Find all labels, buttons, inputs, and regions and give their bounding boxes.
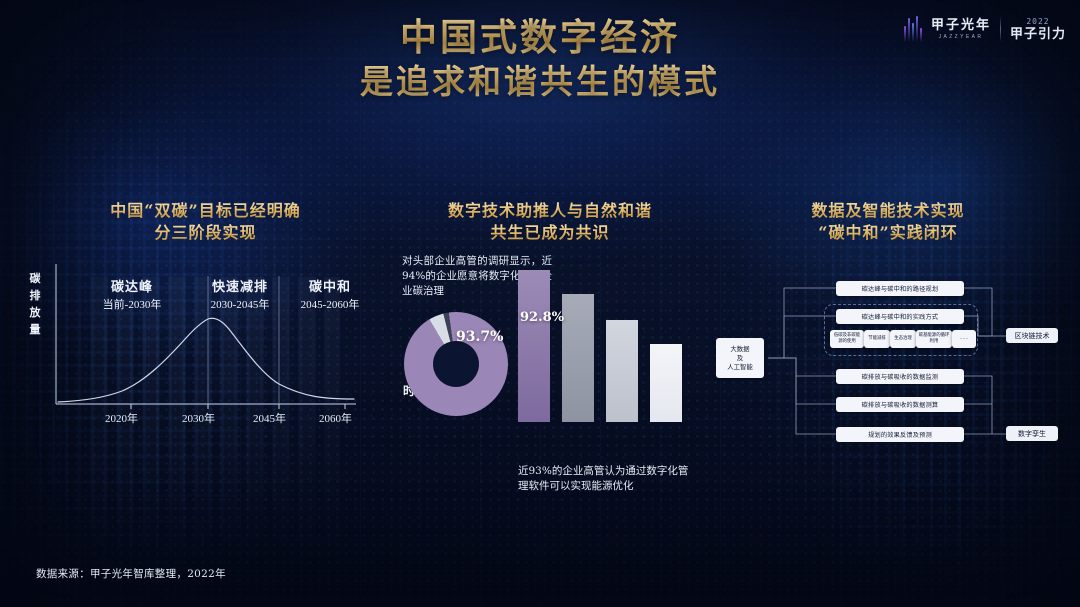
logo-wordmark: 甲子光年 JAZZYEAR — [931, 19, 991, 40]
flow-subnode-2[interactable]: 节能减排 — [864, 330, 890, 348]
logo-divider — [1000, 16, 1001, 42]
flow-subnode-5[interactable]: …… — [952, 330, 976, 348]
flow-subnode-4[interactable]: 碳基能源的循环利用 — [916, 330, 952, 348]
mid-chart-area: 对头部企业高管的调研显示，近94%的企业愿意将数字化用于企业碳治理 93.7% … — [400, 254, 700, 454]
logo-bars-icon — [904, 16, 922, 42]
source-footnote: 数据来源：甲子光年智库整理，2022年 — [36, 566, 226, 581]
stage-1-range: 当前-2030年 — [84, 297, 180, 314]
flow-node-data-monitor[interactable]: 碳排放与碳吸收的数据监测 — [836, 369, 964, 384]
flow-subnode-1[interactable]: 低碳及非碳能源的使用 — [830, 330, 864, 348]
panel-mid-title-2: 共生已成为共识 — [400, 222, 700, 244]
panel-carbon-goals: 中国“双碳”目标已经明确 分三阶段实现 碳 排 放 量 — [18, 200, 393, 450]
panel-closed-loop: 数据及智能技术实现 “碳中和”实践闭环 — [706, 200, 1070, 460]
panel-mid-title-1: 数字技术助推人与自然和谐 — [400, 200, 700, 222]
bar-1-value: 92.8% — [520, 310, 564, 325]
bar-caption: 近93%的企业高管认为通过数字化管理软件可以实现能源优化 — [518, 464, 698, 494]
flow-node-digital-twin[interactable]: 数字孪生 — [1006, 426, 1058, 441]
panel-right-title-1: 数据及智能技术实现 — [706, 200, 1070, 222]
bar-3 — [606, 320, 638, 422]
donut-center-label: 93.7% — [456, 329, 503, 345]
bar-2 — [562, 294, 594, 422]
panel-right-title-2: “碳中和”实践闭环 — [706, 222, 1070, 244]
bar-4 — [650, 344, 682, 422]
logo-event-year: 2022 — [1026, 18, 1049, 26]
stage-2-name: 快速减排 — [190, 278, 290, 295]
source-line-2: 及 — [737, 354, 743, 363]
title-line-2: 是追求和谐共生的模式 — [0, 60, 1080, 104]
stage-2: 快速减排 2030-2045年 — [190, 278, 290, 314]
x-tick-2: 2030年 — [182, 410, 215, 426]
source-line-3: 人工智能 — [727, 363, 753, 372]
logo-name-cn: 甲子光年 — [931, 19, 991, 32]
flow-node-path-planning[interactable]: 碳达峰与碳中和的路径规划 — [836, 281, 964, 296]
source-line-1: 大数据 — [730, 345, 749, 354]
logo-name-en: JAZZYEAR — [939, 35, 984, 40]
logo-event-name: 甲子引力 — [1010, 28, 1066, 41]
brand-logo: 甲子光年 JAZZYEAR 2022 甲子引力 — [904, 16, 1066, 42]
panel-left-title-2: 分三阶段实现 — [18, 222, 393, 244]
flow-node-source[interactable]: 大数据 及 人工智能 — [716, 338, 764, 378]
stage-1: 碳达峰 当前-2030年 — [84, 278, 180, 314]
x-tick-3: 2045年 — [253, 410, 286, 426]
slide-root: 中国式数字经济 是追求和谐共生的模式 甲子光年 JAZZYEAR 2022 甲子… — [0, 0, 1080, 607]
flow-subnode-3[interactable]: 生态治理 — [890, 330, 916, 348]
bar-chart: 92.8% — [518, 262, 694, 422]
donut-chart — [404, 312, 508, 416]
panel-left-title-1: 中国“双碳”目标已经明确 — [18, 200, 393, 222]
carbon-emission-line-chart: 碳 排 放 量 碳达峰 — [18, 256, 393, 436]
x-tick-1: 2020年 — [105, 410, 138, 426]
flow-subnode-1-label: 低碳及非碳能源的使用 — [832, 333, 862, 345]
flow-node-feedback[interactable]: 规划的效果反馈及预测 — [836, 427, 964, 442]
bar-1: 92.8% — [518, 270, 550, 422]
stage-2-range: 2030-2045年 — [190, 297, 290, 314]
stage-1-name: 碳达峰 — [84, 278, 180, 295]
stage-3-name: 碳中和 — [280, 278, 380, 295]
stage-3: 碳中和 2045-2060年 — [280, 278, 380, 314]
panel-digital-tech: 数字技术助推人与自然和谐 共生已成为共识 对头部企业高管的调研显示，近94%的企… — [400, 200, 700, 460]
stage-3-range: 2045-2060年 — [280, 297, 380, 314]
flow-node-blockchain[interactable]: 区块链技术 — [1006, 328, 1058, 343]
x-tick-4: 2060年 — [319, 410, 352, 426]
logo-event: 2022 甲子引力 — [1010, 18, 1066, 41]
flow-node-data-calc[interactable]: 碳排放与碳吸收的数据测算 — [836, 397, 964, 412]
carbon-flow-diagram: 大数据 及 人工智能 碳达峰与碳中和的路径规划 碳达峰与碳中和的实践方式 碳排放… — [706, 258, 1070, 458]
